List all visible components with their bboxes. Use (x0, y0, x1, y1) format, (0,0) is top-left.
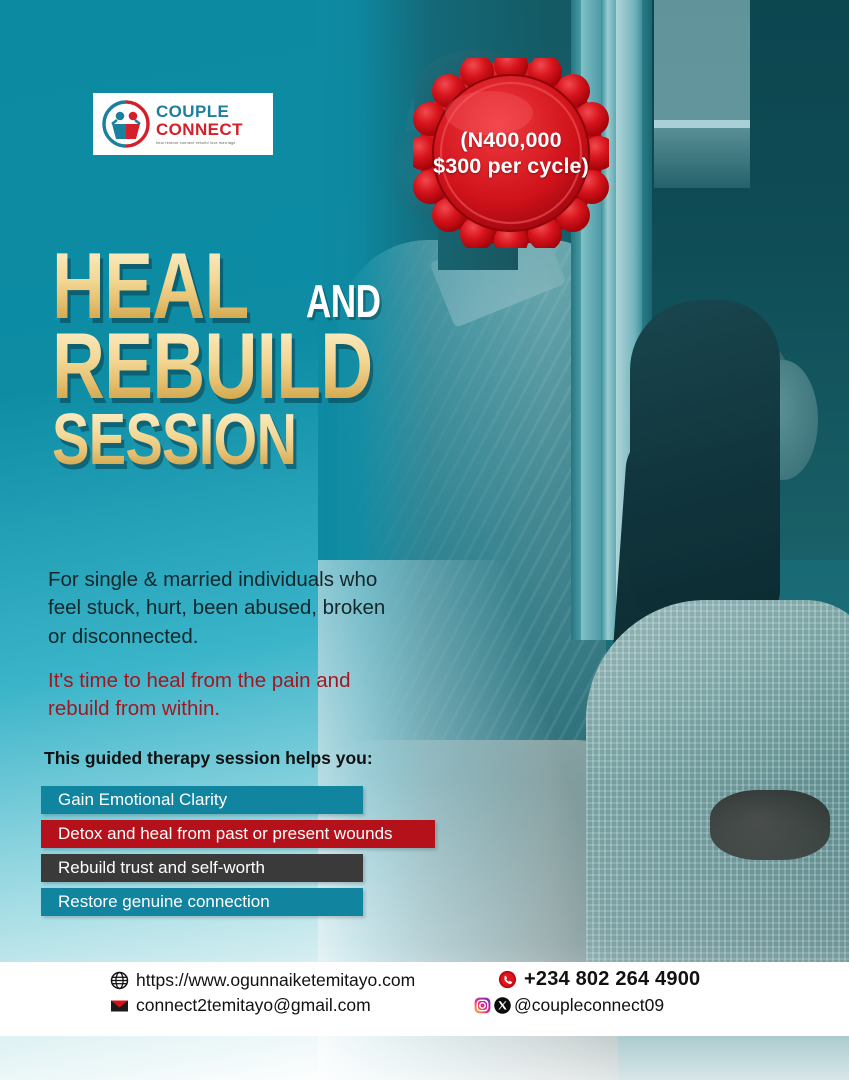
email-row[interactable]: connect2temitayo@gmail.com (110, 995, 415, 1016)
benefit-item-1[interactable]: Gain Emotional Clarity (41, 786, 363, 814)
headline-block: HEAL AND REBUILD SESSION (52, 247, 452, 479)
headline-row-2: REBUILD (52, 327, 452, 411)
seal-line-2: $300 per cycle) (433, 153, 589, 179)
intro-paragraph: For single & married individuals who fee… (48, 566, 388, 651)
headline-row-3: SESSION (52, 411, 452, 479)
seal-text: (N400,000 $300 per cycle) (413, 58, 609, 248)
logo-wordmark: COUPLE CONNECT heal restore connect rebu… (156, 103, 243, 146)
benefit-label: Gain Emotional Clarity (58, 790, 227, 810)
benefit-label: Restore genuine connection (58, 892, 270, 912)
website-text: https://www.ogunnaiketemitayo.com (136, 970, 415, 991)
seal-line-1: (N400,000 (460, 127, 561, 153)
logo-line-2: CONNECT (156, 121, 243, 138)
whatsapp-icon (498, 970, 517, 989)
envelope-icon (110, 996, 129, 1015)
benefit-item-3[interactable]: Rebuild trust and self-worth (41, 854, 363, 882)
headline-rebuild: REBUILD (52, 327, 372, 404)
poster-canvas: COUPLE CONNECT heal restore connect rebu… (0, 0, 849, 1080)
globe-icon (110, 971, 129, 990)
email-text: connect2temitayo@gmail.com (136, 995, 371, 1016)
benefit-item-4[interactable]: Restore genuine connection (41, 888, 363, 916)
social-row[interactable]: @coupleconnect09 (474, 995, 700, 1016)
x-twitter-icon (494, 997, 511, 1014)
brand-logo[interactable]: COUPLE CONNECT heal restore connect rebu… (93, 93, 273, 155)
benefit-label: Detox and heal from past or present woun… (58, 824, 393, 844)
instagram-icon (474, 997, 491, 1014)
phone-text: +234 802 264 4900 (524, 968, 700, 991)
contact-left: https://www.ogunnaiketemitayo.com connec… (110, 970, 415, 1020)
couple-figures-icon (101, 99, 151, 149)
benefits-list: Gain Emotional Clarity Detox and heal fr… (41, 786, 435, 922)
logo-tagline: heal restore connect rebuild love marria… (156, 142, 243, 146)
benefits-heading: This guided therapy session helps you: (44, 748, 373, 769)
price-seal-badge: (N400,000 $300 per cycle) (413, 58, 609, 248)
highlight-paragraph: It's time to heal from the pain and rebu… (48, 667, 388, 724)
social-handle-text: @coupleconnect09 (514, 995, 664, 1016)
headline-session: SESSION (52, 411, 296, 470)
logo-line-1: COUPLE (156, 103, 243, 120)
contact-right: +234 802 264 4900 (498, 968, 700, 1020)
benefit-item-2[interactable]: Detox and heal from past or present woun… (41, 820, 435, 848)
benefit-label: Rebuild trust and self-worth (58, 858, 265, 878)
phone-row[interactable]: +234 802 264 4900 (498, 968, 700, 991)
website-row[interactable]: https://www.ogunnaiketemitayo.com (110, 970, 415, 991)
